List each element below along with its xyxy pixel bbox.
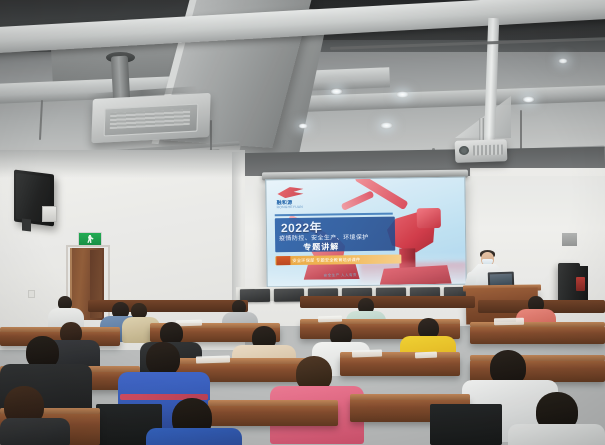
slide-logo: 融和源 RONGHEYUAN [275, 186, 315, 213]
speaker-bracket [22, 218, 31, 231]
desk-row-front-top [350, 394, 470, 400]
chair-back [430, 404, 502, 445]
torso [146, 428, 242, 445]
desk-row-3 [470, 326, 605, 344]
ceiling-downlight [330, 88, 343, 95]
projector-mount-pole [479, 118, 484, 142]
wall-outlet [28, 290, 35, 298]
desk-paper [196, 355, 230, 363]
torso [0, 418, 70, 445]
exit-sign [78, 232, 102, 246]
logo-swoosh-icon [277, 187, 303, 198]
desk-row-2-top [168, 358, 318, 364]
torso [508, 424, 605, 445]
crane-grab [417, 208, 441, 228]
desk-paper [494, 318, 524, 326]
exit-running-figure-icon [87, 235, 94, 243]
ceiling-downlight [558, 58, 568, 64]
ceiling-downlight [396, 91, 409, 98]
projection-screen: 融和源 RONGHEYUAN 2022年 疫情防控、安全生产、环境保护 专题讲解… [265, 177, 466, 288]
ceiling-downlight [298, 123, 308, 129]
right-wall-plaque [562, 233, 577, 246]
desk-row-3-top [470, 322, 605, 327]
ac-stem [111, 56, 130, 101]
right-wall-notice [576, 277, 585, 291]
desk-paper [415, 352, 437, 359]
desk-paper [318, 316, 342, 323]
logo-subtext: RONGHEYUAN [277, 205, 303, 209]
desk-row-front-top [208, 400, 338, 406]
desk-paper [352, 349, 382, 357]
desk-row-back [300, 296, 475, 308]
ceiling-hanger [520, 110, 522, 150]
slide-footer: 安全生产 人人有责 [324, 273, 357, 278]
wall-plate [42, 206, 57, 222]
lecture-hall-photo: 融和源 RONGHEYUAN 2022年 疫情防控、安全生产、环境保护 专题讲解… [0, 0, 605, 445]
projector-vent [473, 144, 503, 155]
ceiling-downlight [522, 96, 535, 103]
desk-row-2 [340, 356, 460, 376]
slide-banner-tag [276, 256, 290, 265]
desk-row-front [208, 404, 338, 426]
slide-main-title: 专题讲解 [303, 241, 339, 253]
ceiling-downlight [380, 122, 393, 129]
crane-ground-haze [359, 262, 466, 288]
head [146, 342, 180, 376]
slide-banner-text: 安全环保部 专题安全教育培训课件 [292, 257, 360, 264]
